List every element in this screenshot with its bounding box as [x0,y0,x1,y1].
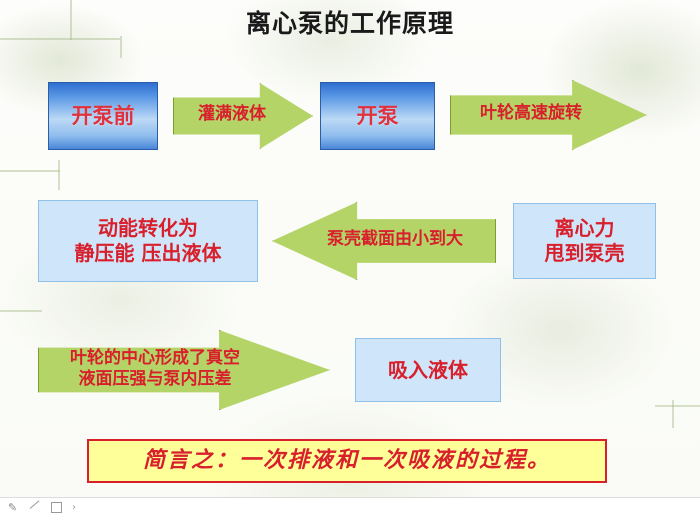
node-conclusion[interactable]: 简言之：一次排液和一次吸液的过程。 [87,439,607,483]
arrow-label-impeller-rotate: 叶轮高速旋转 [455,99,607,129]
node-centrifugal-force[interactable]: 离心力 甩到泵壳 [513,203,656,279]
node-start-pump[interactable]: 开泵 [320,82,435,150]
node-before-start[interactable]: 开泵前 [48,82,158,150]
background-line-horizontal-2 [0,170,60,172]
bottom-toolbar: ✎ › [0,497,700,517]
background-line-horizontal-4 [655,405,700,407]
arrow-label-vacuum-formed: 叶轮的中心形成了真空 液面压强与泵内压差 [44,341,266,397]
line-icon[interactable] [30,502,41,513]
page-title: 离心泵的工作原理 [0,4,700,40]
node-energy-convert[interactable]: 动能转化为 静压能 压出液体 [38,200,258,282]
arrow-label-fill-liquid: 灌满液体 [178,100,286,130]
square-icon[interactable] [51,502,62,513]
arrow-label-casing-section: 泵壳截面由小到大 [300,225,490,255]
pen-icon[interactable]: ✎ [8,502,20,514]
chevron-icon[interactable]: › [72,502,84,514]
background-line-vertical-3 [58,160,60,190]
node-suction[interactable]: 吸入液体 [355,338,501,402]
background-line-horizontal-3 [0,310,42,312]
background-line-vertical-4 [672,400,674,428]
slide-canvas: 离心泵的工作原理 开泵前 灌满液体 开泵 叶轮高速旋转 动能转化为 静压能 压出… [0,0,700,517]
